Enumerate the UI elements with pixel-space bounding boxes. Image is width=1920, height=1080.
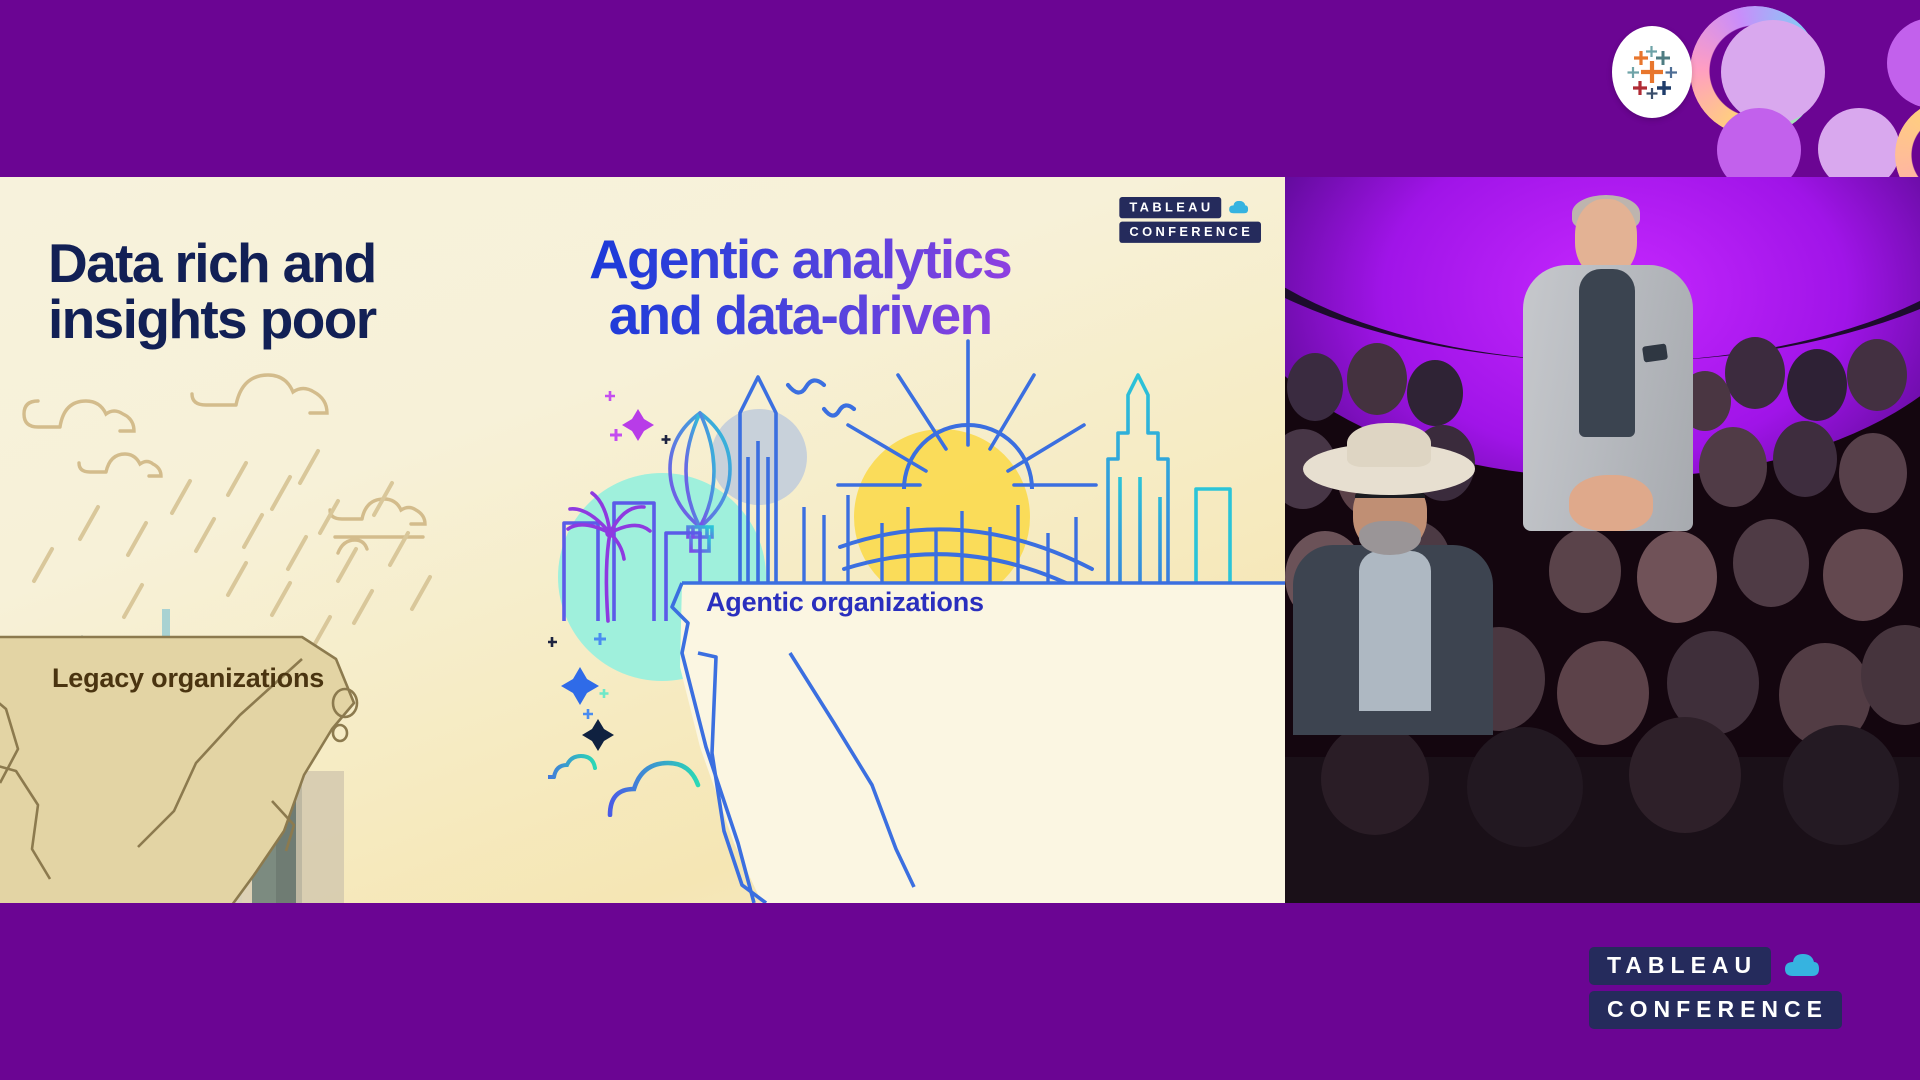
cowboy-hat-crown xyxy=(1347,423,1431,467)
speaker-shirt xyxy=(1579,269,1635,437)
agentic-heading-line1: Agentic analytics xyxy=(560,231,1040,287)
small-cloud-icon xyxy=(548,756,595,789)
speaker-pocket-square xyxy=(1642,343,1668,362)
broadcast-frame: Data rich and insights poor xyxy=(0,0,1920,1080)
presentation-slide: Data rich and insights poor xyxy=(0,177,1285,903)
agentic-heading: Agentic analytics and data-driven xyxy=(560,231,1040,343)
cloud-icon xyxy=(1785,954,1819,978)
badge-line1: TABLEAU xyxy=(1589,947,1771,985)
legacy-ledge-label: Legacy organizations xyxy=(52,663,324,694)
live-video-feed xyxy=(1285,177,1920,903)
top-branding-bar xyxy=(0,0,1920,177)
cowboy-shirt xyxy=(1359,551,1431,711)
agentic-ledge-label: Agentic organizations xyxy=(706,587,984,618)
decorative-circle-1 xyxy=(1721,20,1825,124)
legacy-cliff-illustration xyxy=(0,615,400,903)
decorative-circle-3 xyxy=(1818,108,1900,177)
slide-badge-line1: TABLEAU xyxy=(1119,197,1221,218)
content-band: Data rich and insights poor xyxy=(0,177,1920,903)
agentic-panel: Agentic analytics and data-driven xyxy=(548,177,1285,903)
bottom-branding-bar: TABLEAU CONFERENCE xyxy=(0,903,1920,1080)
badge-line2: CONFERENCE xyxy=(1589,991,1842,1029)
legacy-heading-line1: Data rich and xyxy=(48,235,468,291)
agentic-heading-line2: and data-driven xyxy=(560,287,1040,343)
conference-badge: TABLEAU CONFERENCE xyxy=(1589,947,1842,1029)
legacy-heading-line2: insights poor xyxy=(48,291,468,347)
hot-air-balloon-icon xyxy=(670,413,730,551)
palm-tree-icon xyxy=(568,493,650,621)
slide-conference-badge: TABLEAU CONFERENCE xyxy=(1119,197,1261,243)
slide-badge-line2: CONFERENCE xyxy=(1119,222,1261,243)
cloud-icon xyxy=(1229,201,1248,214)
speaker-figure xyxy=(1517,199,1697,529)
legacy-panel: Data rich and insights poor xyxy=(0,177,560,903)
cowboy-beard xyxy=(1359,521,1421,555)
decorative-circle-4 xyxy=(1887,18,1920,108)
speaker-hands xyxy=(1569,475,1653,531)
decorative-gradient-ring-2 xyxy=(1895,100,1920,177)
legacy-heading: Data rich and insights poor xyxy=(48,235,468,347)
tableau-logo-icon xyxy=(1612,26,1692,118)
sun-rays xyxy=(838,341,1096,485)
sparkles-mint-left xyxy=(548,633,614,751)
audience-member-cowboy-hat xyxy=(1303,429,1493,729)
sparkles-violet xyxy=(605,391,671,444)
